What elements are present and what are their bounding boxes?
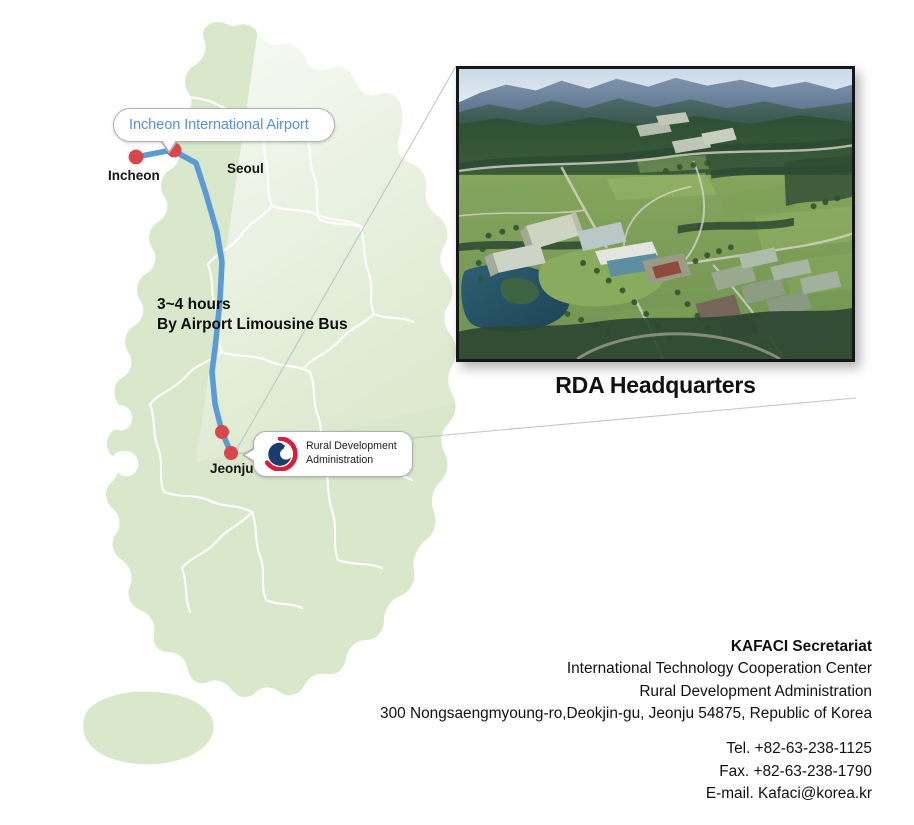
contact-fax: Fax. +82-63-238-1790 [380,761,872,783]
callout-rural-development-administration[interactable]: Rural Development Administration [253,431,413,477]
callout-rda-text: Rural Development Administration [306,440,397,467]
rda-headquarters-photo [456,66,855,362]
travel-time-duration: 3~4 hours [157,295,348,315]
address-block: KAFACI Secretariat International Technol… [380,636,872,805]
map-label-jeonju: Jeonju [210,461,254,476]
organization-name: KAFACI Secretariat [380,636,872,658]
callout-tail-inner-icon [245,449,255,461]
callout-tail-inner-icon [162,140,176,151]
address-line-3: 300 Nongsaengmyoung-ro,Deokjin-gu, Jeonj… [380,703,872,725]
travel-time-note: 3~4 hours By Airport Limousine Bus [157,295,348,336]
map-label-seoul: Seoul [227,161,264,176]
callout-incheon-airport[interactable]: Incheon International Airport [113,108,335,142]
contact-email[interactable]: E-mail. Kafaci@korea.kr [380,783,872,805]
kafaci-location-infographic: Incheon Seoul Jeonju 3~4 hours By Airpor… [0,0,914,825]
map-label-incheon: Incheon [108,168,160,183]
address-line-2: Rural Development Administration [380,681,872,703]
jeju-island [83,692,213,765]
rural-development-administration-logo [261,437,299,471]
callout-incheon-airport-label: Incheon International Airport [129,117,309,133]
travel-time-mode: By Airport Limousine Bus [157,315,348,335]
callout-rda-line1: Rural Development [306,440,397,454]
contact-block: Tel. +82-63-238-1125 Fax. +82-63-238-179… [380,738,872,805]
address-line-1: International Technology Cooperation Cen… [380,658,872,680]
contact-tel: Tel. +82-63-238-1125 [380,738,872,760]
photo-caption: RDA Headquarters [456,372,855,399]
callout-rda-line2: Administration [306,454,397,468]
